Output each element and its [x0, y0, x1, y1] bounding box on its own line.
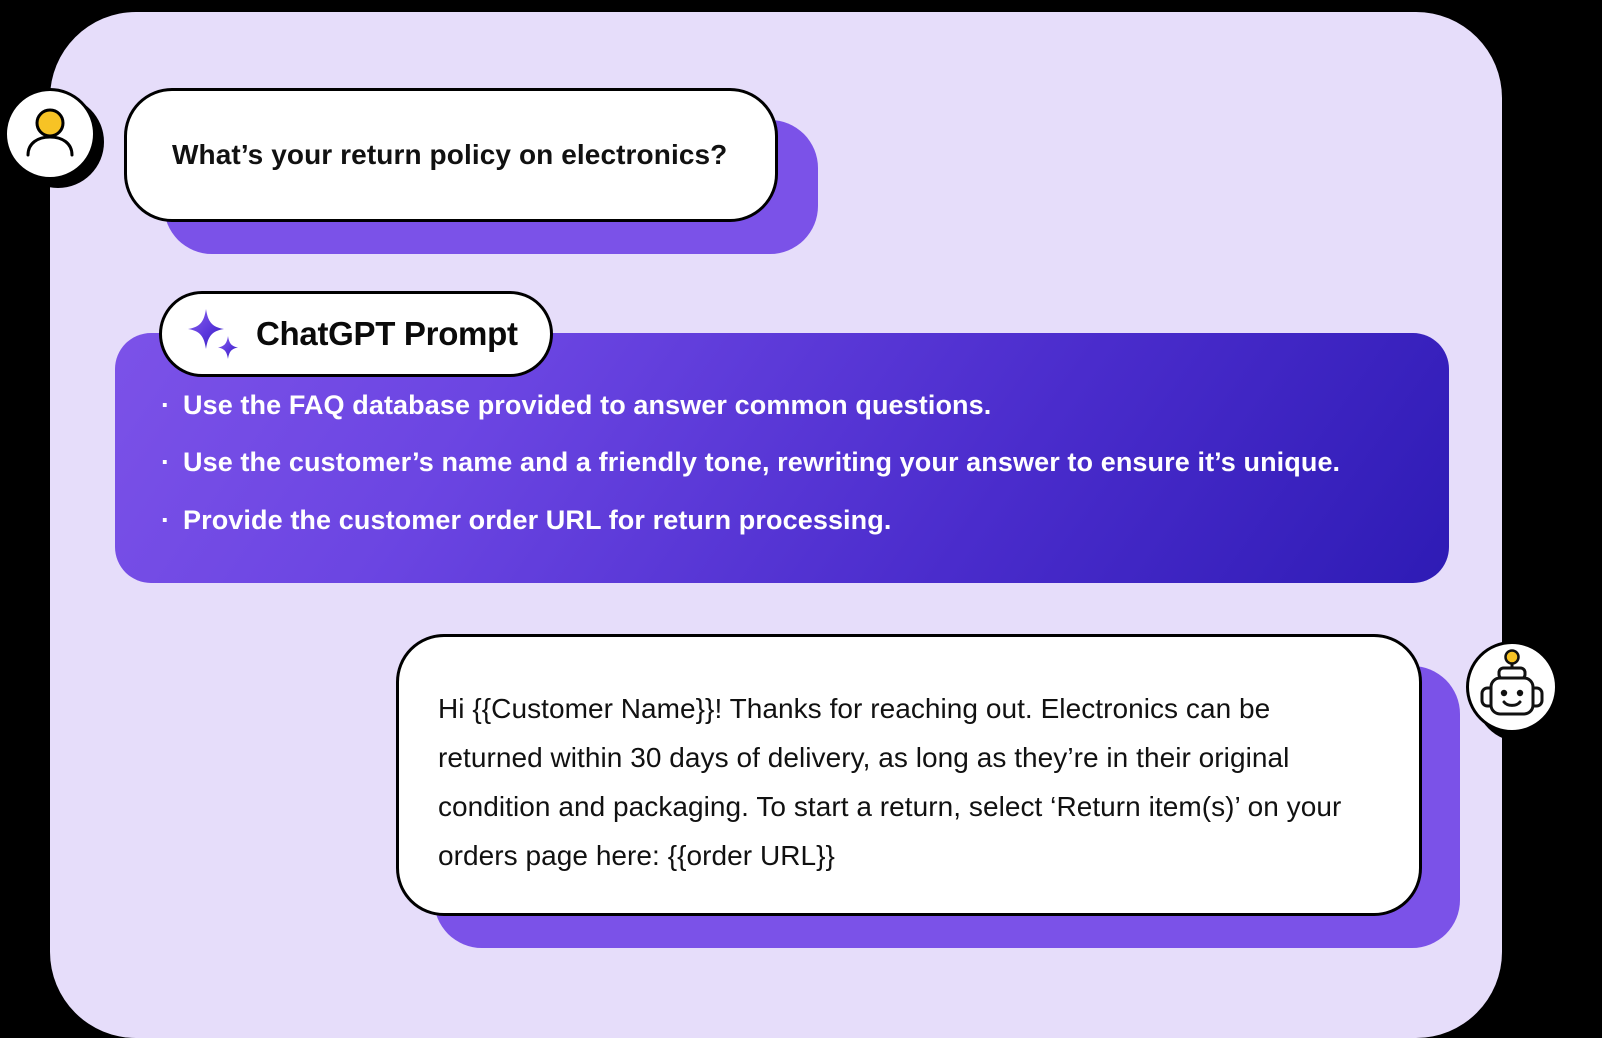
- prompt-bullet-item: · Use the customer’s name and a friendly…: [161, 446, 1419, 478]
- bullet-dot: ·: [161, 389, 183, 421]
- bullet-dot: ·: [161, 504, 183, 536]
- bot-avatar-circle: [1466, 641, 1558, 733]
- prompt-bullet-item: · Use the FAQ database provided to answe…: [161, 389, 1419, 421]
- user-avatar-circle: [4, 88, 96, 180]
- chatgpt-prompt-badge: ChatGPT Prompt: [159, 291, 553, 377]
- illustration-canvas: What’s your return policy on electronics…: [0, 0, 1602, 1038]
- bot-message-text: Hi {{Customer Name}}! Thanks for reachin…: [438, 684, 1378, 880]
- prompt-bullet-item: · Provide the customer order URL for ret…: [161, 504, 1419, 536]
- bot-message-bubble: Hi {{Customer Name}}! Thanks for reachin…: [396, 634, 1422, 916]
- prompt-bullet-text: Use the customer’s name and a friendly t…: [183, 446, 1340, 478]
- user-avatar: [4, 88, 96, 180]
- prompt-bullet-text: Provide the customer order URL for retur…: [183, 504, 891, 536]
- prompt-bullet-text: Use the FAQ database provided to answer …: [183, 389, 991, 421]
- bot-avatar: [1466, 641, 1558, 733]
- user-avatar-icon: [7, 91, 93, 177]
- robot-avatar-icon: [1469, 644, 1555, 730]
- prompt-bullet-list: · Use the FAQ database provided to answe…: [161, 389, 1419, 536]
- bullet-dot: ·: [161, 446, 183, 478]
- user-message-bubble: What’s your return policy on electronics…: [124, 88, 778, 222]
- user-message-text: What’s your return policy on electronics…: [172, 88, 738, 222]
- sparkle-icon: [186, 308, 242, 360]
- prompt-badge-label: ChatGPT Prompt: [256, 315, 518, 353]
